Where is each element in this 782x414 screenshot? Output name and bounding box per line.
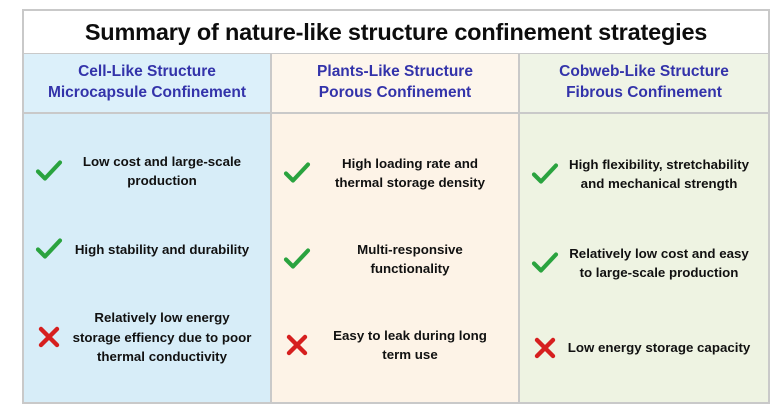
column-plants-like-structure: Plants-Like Structure Porous Confinement… [272,54,520,402]
column-body-3: High flexibility, stretchability and mec… [520,114,768,402]
list-item: Relatively low cost and easy to large-sc… [528,242,760,285]
list-item-text: High loading rate and thermal storage de… [318,154,508,193]
column-body-2: High loading rate and thermal storage de… [272,114,518,402]
list-item-text: Relatively low cost and easy to large-sc… [566,244,758,283]
check-icon [530,159,560,189]
column-cell-like-structure: Cell-Like Structure Microcapsule Confine… [24,54,272,402]
column-header-3-line2: Fibrous Confinement [566,83,722,104]
column-cobweb-like-structure: Cobweb-Like Structure Fibrous Confinemen… [520,54,768,402]
list-item-text: Relatively low energy storage effiency d… [70,308,260,366]
list-item: Low energy storage capacity [528,331,760,365]
list-item: High stability and durability [32,232,262,266]
list-item: High flexibility, stretchability and mec… [528,153,760,196]
column-header-1-line1: Cell-Like Structure [78,62,216,83]
list-item-text: Multi-responsive functionality [318,240,508,279]
check-icon [34,156,64,186]
list-item-text: High stability and durability [70,240,260,259]
column-header-1: Cell-Like Structure Microcapsule Confine… [24,54,270,114]
column-header-1-line2: Microcapsule Confinement [48,83,246,104]
check-icon [530,248,560,278]
columns-container: Cell-Like Structure Microcapsule Confine… [22,53,770,404]
cross-icon [34,322,64,352]
list-item-text: Low energy storage capacity [566,338,758,357]
figure-title: Summary of nature-like structure confine… [85,19,707,46]
list-item-text: Easy to leak during long term use [318,326,508,365]
column-header-2: Plants-Like Structure Porous Confinement [272,54,518,114]
column-header-3: Cobweb-Like Structure Fibrous Confinemen… [520,54,768,114]
summary-table-figure: Summary of nature-like structure confine… [0,0,782,414]
check-icon [282,244,312,274]
list-item: Relatively low energy storage effiency d… [32,306,262,368]
list-item-text: Low cost and large-scale production [70,152,260,191]
column-header-2-line2: Porous Confinement [319,83,471,104]
list-item: Low cost and large-scale production [32,150,262,193]
figure-title-bar: Summary of nature-like structure confine… [22,9,770,53]
cross-icon [282,330,312,360]
list-item: Multi-responsive functionality [280,238,510,281]
list-item-text: High flexibility, stretchability and mec… [566,155,758,194]
cross-icon [530,333,560,363]
column-header-3-line1: Cobweb-Like Structure [559,62,729,83]
check-icon [282,158,312,188]
list-item: Easy to leak during long term use [280,324,510,367]
column-header-2-line1: Plants-Like Structure [317,62,473,83]
list-item: High loading rate and thermal storage de… [280,152,510,195]
column-body-1: Low cost and large-scale production High… [24,114,270,402]
check-icon [34,234,64,264]
